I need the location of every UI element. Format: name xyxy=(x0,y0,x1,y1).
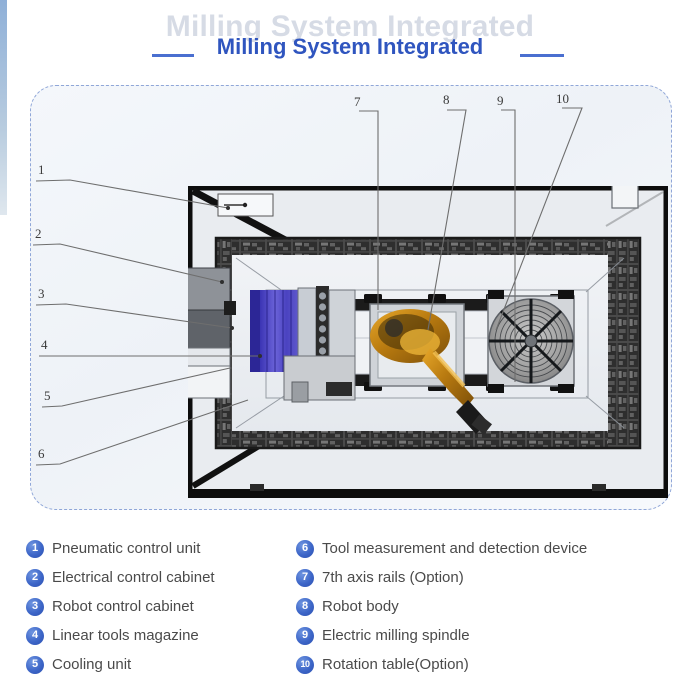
legend-item-4: 4 Linear tools magazine xyxy=(26,621,316,650)
callout-4: 4 xyxy=(41,337,48,353)
legend-label-2: Electrical control cabinet xyxy=(52,569,215,586)
callout-5: 5 xyxy=(44,388,51,404)
legend-item-7: 7 7th axis rails (Option) xyxy=(296,563,696,592)
title-rule-left xyxy=(152,54,194,57)
legend-label-6: Tool measurement and detection device xyxy=(322,540,587,557)
callout-9: 9 xyxy=(497,93,504,109)
legend-badge-6: 6 xyxy=(296,540,314,558)
legend-badge-8: 8 xyxy=(296,598,314,616)
legend-item-2: 2 Electrical control cabinet xyxy=(26,563,316,592)
legend-label-5: Cooling unit xyxy=(52,656,131,673)
legend-label-4: Linear tools magazine xyxy=(52,627,199,644)
legend-label-10: Rotation table(Option) xyxy=(322,656,469,673)
legend-item-8: 8 Robot body xyxy=(296,592,696,621)
legend: 1 Pneumatic control unit 2 Electrical co… xyxy=(26,534,686,694)
legend-column-right: 6 Tool measurement and detection device … xyxy=(296,534,696,679)
legend-label-7: 7th axis rails (Option) xyxy=(322,569,464,586)
legend-item-1: 1 Pneumatic control unit xyxy=(26,534,316,563)
legend-item-3: 3 Robot control cabinet xyxy=(26,592,316,621)
legend-label-1: Pneumatic control unit xyxy=(52,540,200,557)
legend-column-left: 1 Pneumatic control unit 2 Electrical co… xyxy=(26,534,316,679)
legend-badge-5: 5 xyxy=(26,656,44,674)
legend-item-5: 5 Cooling unit xyxy=(26,650,316,679)
legend-item-10: 10 Rotation table(Option) xyxy=(296,650,696,679)
callout-3: 3 xyxy=(38,286,45,302)
diagram-page: Milling System Integrated Milling System… xyxy=(0,0,700,700)
legend-item-6: 6 Tool measurement and detection device xyxy=(296,534,696,563)
legend-badge-4: 4 xyxy=(26,627,44,645)
page-title: Milling System Integrated xyxy=(0,34,700,60)
legend-badge-10: 10 xyxy=(296,656,314,674)
legend-badge-2: 2 xyxy=(26,569,44,587)
legend-label-8: Robot body xyxy=(322,598,399,615)
callout-8: 8 xyxy=(443,92,450,108)
legend-item-9: 9 Electric milling spindle xyxy=(296,621,696,650)
callout-1: 1 xyxy=(38,162,45,178)
legend-badge-7: 7 xyxy=(296,569,314,587)
title-block: Milling System Integrated Milling System… xyxy=(0,8,700,64)
callout-7: 7 xyxy=(354,94,361,110)
machine-illustration xyxy=(188,186,668,498)
legend-label-9: Electric milling spindle xyxy=(322,627,470,644)
title-rule-right xyxy=(520,54,564,57)
legend-badge-3: 3 xyxy=(26,598,44,616)
callout-2: 2 xyxy=(35,226,42,242)
legend-badge-9: 9 xyxy=(296,627,314,645)
callout-6: 6 xyxy=(38,446,45,462)
legend-badge-1: 1 xyxy=(26,540,44,558)
legend-label-3: Robot control cabinet xyxy=(52,598,194,615)
callout-10: 10 xyxy=(556,91,569,107)
